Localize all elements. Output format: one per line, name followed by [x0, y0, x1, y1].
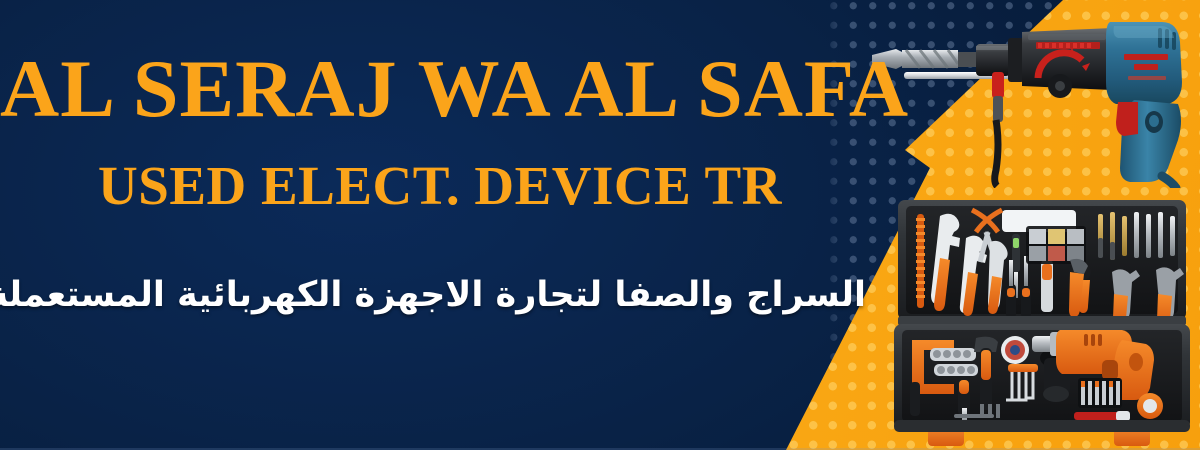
company-banner: AL SERAJ WA AL SAFA USED ELECT. DEVICE T… — [0, 0, 1200, 450]
rotary-hammer-drill-icon — [862, 8, 1200, 188]
company-name-arabic: السراج والصفا لتجارة الاجهزة الكهربائية … — [0, 274, 866, 318]
case-base — [894, 324, 1190, 430]
banner-text-block: AL SERAJ WA AL SAFA USED ELECT. DEVICE T… — [0, 0, 880, 450]
company-name-line1: AL SERAJ WA AL SAFA — [0, 48, 880, 130]
case-lid — [898, 200, 1186, 327]
tool-case-icon — [884, 198, 1200, 450]
company-name-line2: USED ELECT. DEVICE TR — [0, 158, 880, 213]
